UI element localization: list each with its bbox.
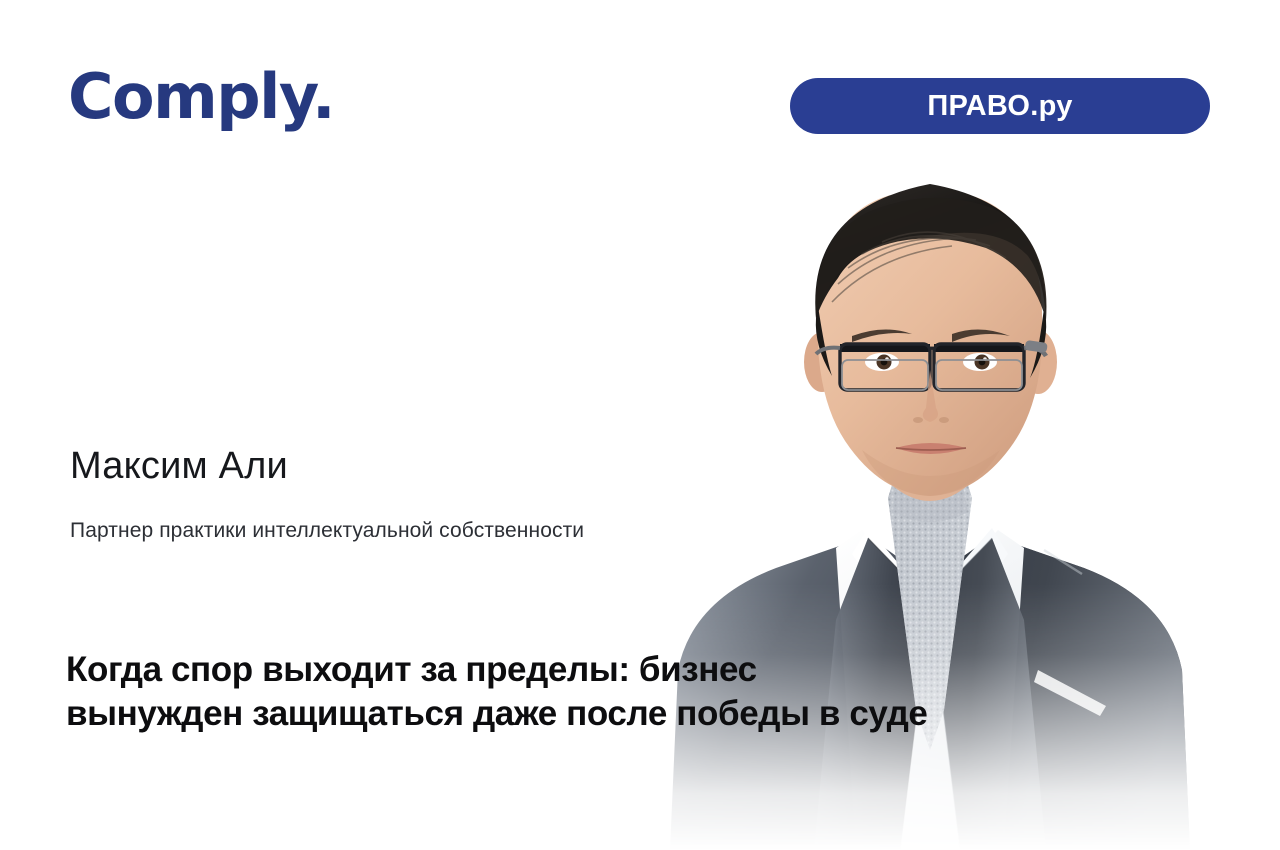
person-role: Партнер практики интеллектуальной собств…: [70, 516, 600, 546]
pravo-ru-badge[interactable]: ПРАВО.ру: [790, 78, 1210, 134]
promo-card: Comply. ПРАВО.ру: [0, 0, 1280, 850]
nostril-left: [913, 417, 923, 423]
headline-line-1: Когда спор выходит за пределы: бизнес: [66, 648, 1226, 692]
portrait-illustration: [600, 150, 1280, 850]
person-name: Максим Али: [70, 446, 288, 488]
headline: Когда спор выходит за пределы: бизнес вы…: [66, 648, 1226, 736]
pravo-ru-badge-label: ПРАВО.ру: [927, 92, 1072, 121]
comply-logo: Comply.: [68, 66, 334, 128]
headline-line-2: вынужден защищаться даже после победы в …: [66, 692, 1226, 736]
nostril-right: [939, 417, 949, 423]
portrait-photo: [600, 150, 1280, 850]
